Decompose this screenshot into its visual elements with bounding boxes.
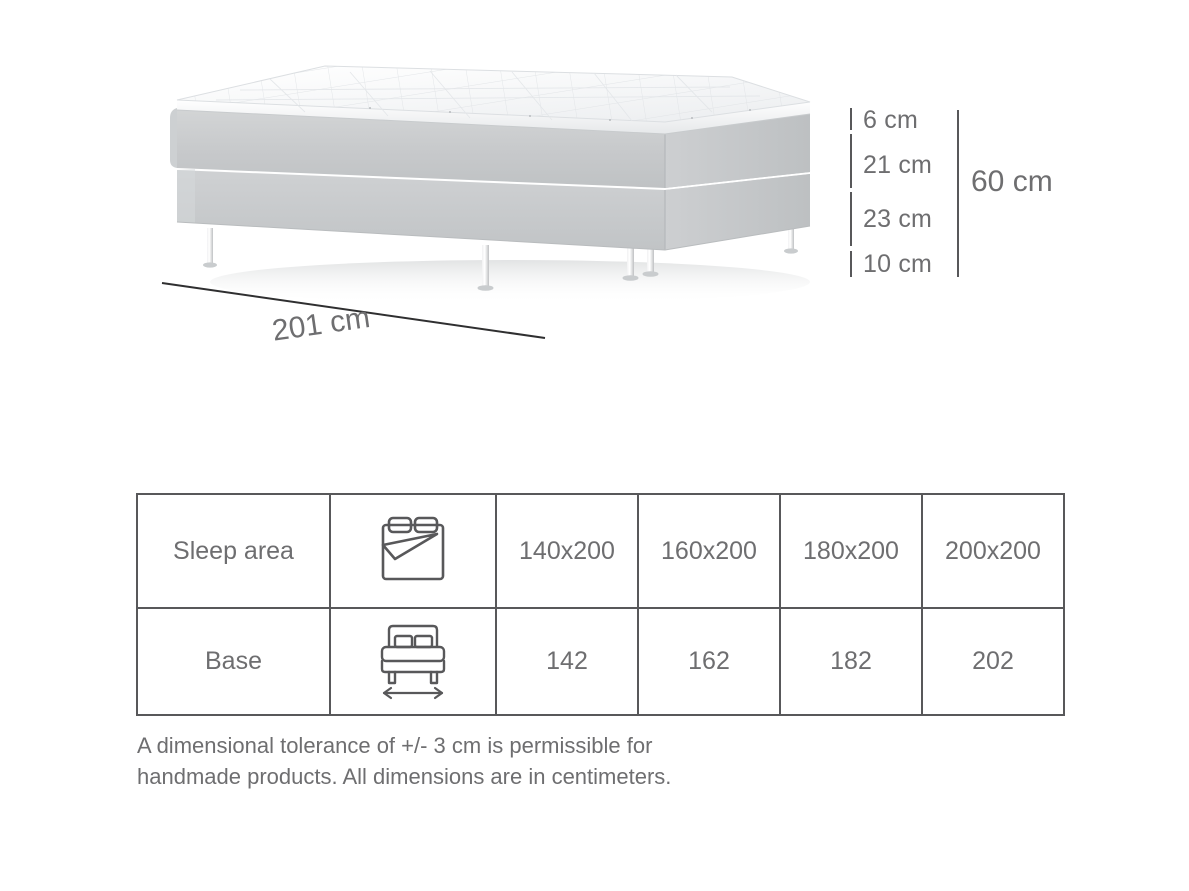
tick-total-height <box>957 110 959 277</box>
label-box-height: 23 cm <box>863 205 932 234</box>
cell-base-142: 142 <box>496 608 638 715</box>
tolerance-note: A dimensional tolerance of +/- 3 cm is p… <box>137 730 857 792</box>
tick-legs-height <box>850 251 852 277</box>
label-mattress-height: 21 cm <box>863 151 932 180</box>
label-topper-height: 6 cm <box>863 106 918 135</box>
tick-mattress-height <box>850 134 852 188</box>
bed-top-view-icon <box>375 515 451 587</box>
cell-base-182: 182 <box>780 608 922 715</box>
table-row-sleep-area: Sleep area <box>137 494 1064 608</box>
dimension-table: Sleep area <box>136 493 1065 716</box>
tolerance-note-line-1: A dimensional tolerance of +/- 3 cm is p… <box>137 730 857 761</box>
row-header-sleep-area: Sleep area <box>137 494 330 608</box>
bed-front-view-width-icon <box>373 622 453 702</box>
cell-sleep-area-160: 160x200 <box>638 494 780 608</box>
tick-topper-height <box>850 108 852 130</box>
product-dimension-infographic: 6 cm 21 cm 23 cm 10 cm 60 cm 201 cm Slee… <box>0 0 1189 891</box>
cell-base-202: 202 <box>922 608 1064 715</box>
cell-base-162: 162 <box>638 608 780 715</box>
tick-box-height <box>850 192 852 246</box>
label-legs-height: 10 cm <box>863 250 932 279</box>
table-row-base: Base <box>137 608 1064 715</box>
cell-sleep-area-140: 140x200 <box>496 494 638 608</box>
tolerance-note-line-2: handmade products. All dimensions are in… <box>137 761 857 792</box>
cell-sleep-area-200: 200x200 <box>922 494 1064 608</box>
row-header-base: Base <box>137 608 330 715</box>
cell-icon-sleep-area <box>330 494 496 608</box>
cell-icon-base <box>330 608 496 715</box>
width-arrow-icon <box>384 688 442 698</box>
label-total-height: 60 cm <box>971 165 1053 199</box>
cell-sleep-area-180: 180x200 <box>780 494 922 608</box>
